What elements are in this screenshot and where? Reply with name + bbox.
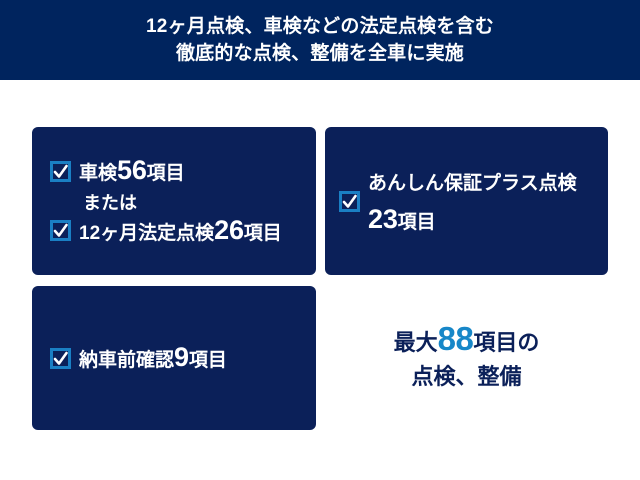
row-prefix: 納車前確認 (79, 350, 174, 371)
row-suffix: 項目 (244, 223, 282, 244)
or-label: または (83, 189, 137, 215)
row-number: 23 (368, 204, 398, 234)
header-banner: 12ヶ月点検、車検などの法定点検を含む 徹底的な点検、整備を全車に実施 (0, 0, 640, 80)
inspection-row-label: 12ヶ月法定点検26項目 (79, 217, 282, 246)
inspection-items-card: 車検56項目 または 12ヶ月法定点検26項目 (32, 127, 316, 275)
summary-line-1: 最大88項目の (394, 322, 540, 360)
summary-suffix: の (517, 330, 539, 355)
row-number: 56 (117, 155, 147, 185)
checkbox-checked-icon (50, 348, 71, 369)
row-suffix: 項目 (147, 163, 185, 184)
warranty-title-label: あんしん保証プラス点検 (368, 168, 577, 195)
checkbox-checked-icon (50, 161, 71, 182)
summary-line-2: 点検、整備 (411, 360, 521, 394)
predelivery-row-label: 納車前確認9項目 (79, 344, 227, 373)
inspection-row-label: 車検56項目 (79, 157, 185, 186)
list-item-separator: または (50, 189, 282, 215)
list-item: 納車前確認9項目 (50, 344, 227, 373)
row-prefix: 車検 (79, 163, 117, 184)
total-summary: 最大88項目の 点検、整備 (325, 286, 608, 430)
summary-total-number: 88 (438, 320, 474, 357)
row-prefix: 12ヶ月法定点検 (79, 223, 214, 244)
row-number: 9 (174, 342, 189, 372)
checkbox-checked-icon (50, 220, 71, 241)
list-item: 12ヶ月法定点検26項目 (50, 217, 282, 246)
warranty-plus-card: あんしん保証プラス点検 23項目 (325, 127, 608, 275)
checkbox-checked-icon (339, 191, 360, 212)
summary-middle: 項目 (473, 330, 517, 355)
header-title-line-1: 12ヶ月点検、車検などの法定点検を含む (146, 13, 494, 40)
header-title-line-2: 徹底的な点検、整備を全車に実施 (176, 40, 464, 67)
predelivery-check-card: 納車前確認9項目 (32, 286, 316, 430)
row-suffix: 項目 (398, 212, 436, 233)
summary-prefix: 最大 (394, 330, 438, 355)
row-number: 26 (214, 215, 244, 245)
warranty-count-label: 23項目 (368, 204, 577, 235)
list-item: 車検56項目 (50, 157, 282, 186)
row-suffix: 項目 (189, 350, 227, 371)
